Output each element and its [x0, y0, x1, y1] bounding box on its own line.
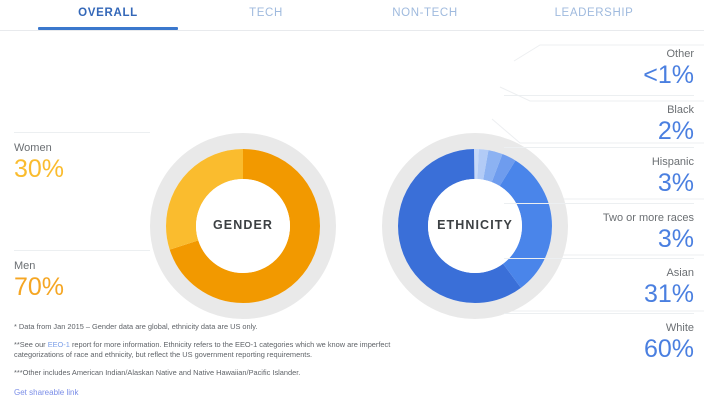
legend-item-white-label: White — [504, 321, 694, 335]
tab-active-underline — [38, 27, 178, 30]
legend-item-two-or-more-races-label: Two or more races — [504, 211, 694, 225]
footnote-eeo1-pre: **See our — [14, 340, 48, 349]
legend-rule — [504, 203, 694, 204]
tab-leadership[interactable]: LEADERSHIP — [519, 0, 669, 30]
gender-center-label: GENDER — [150, 218, 336, 232]
legend-item-hispanic-value: 3% — [504, 169, 694, 198]
legend-rule — [14, 250, 150, 251]
tab-overall-label: OVERALL — [78, 7, 138, 19]
legend-item-women-value: 30% — [14, 155, 150, 184]
legend-item-asian[interactable]: Asian 31% — [504, 266, 694, 309]
legend-item-men[interactable]: Men 70% — [14, 259, 150, 302]
legend-item-asian-label: Asian — [504, 266, 694, 280]
legend-item-white[interactable]: White 60% — [504, 321, 694, 364]
legend-rule — [504, 313, 694, 314]
legend-rule — [504, 95, 694, 96]
tab-non-tech[interactable]: NON-TECH — [355, 0, 495, 30]
legend-item-black-value: 2% — [504, 117, 694, 146]
tab-bar: OVERALL TECH NON-TECH LEADERSHIP — [0, 0, 704, 31]
legend-item-black-label: Black — [504, 103, 694, 117]
footnote-eeo1-post: report for more information. Ethnicity r… — [14, 340, 390, 360]
footnote-data-source: * Data from Jan 2015 – Gender data are g… — [14, 322, 434, 333]
legend-item-men-value: 70% — [14, 273, 150, 302]
legend-item-men-label: Men — [14, 259, 150, 273]
legend-item-asian-value: 31% — [504, 280, 694, 309]
tab-tech-label: TECH — [249, 7, 283, 19]
legend-item-other[interactable]: Other <1% — [504, 47, 694, 90]
tab-leadership-label: LEADERSHIP — [555, 7, 634, 19]
legend-item-two-or-more-races-value: 3% — [504, 225, 694, 254]
legend-item-other-value: <1% — [504, 61, 694, 90]
tab-non-tech-label: NON-TECH — [392, 7, 458, 19]
footnote-other-definition: ***Other includes American Indian/Alaska… — [14, 368, 434, 379]
footnote-eeo1: **See our EEO-1 report for more informat… — [14, 340, 434, 361]
legend-item-women[interactable]: Women 30% — [14, 141, 150, 184]
legend-item-women-label: Women — [14, 141, 150, 155]
legend-item-hispanic[interactable]: Hispanic 3% — [504, 155, 694, 198]
tab-tech[interactable]: TECH — [196, 0, 336, 30]
legend-rule — [14, 132, 150, 133]
legend-item-two-or-more-races[interactable]: Two or more races 3% — [504, 211, 694, 254]
get-shareable-link[interactable]: Get shareable link — [14, 388, 78, 397]
tab-overall[interactable]: OVERALL — [38, 0, 178, 30]
legend-item-hispanic-label: Hispanic — [504, 155, 694, 169]
charts-stage: GENDER ETHNICITY Women 30% Men — [0, 31, 704, 321]
legend-item-other-label: Other — [504, 47, 694, 61]
legend-item-black[interactable]: Black 2% — [504, 103, 694, 146]
legend-item-white-value: 60% — [504, 335, 694, 364]
legend-rule — [504, 147, 694, 148]
gender-donut-chart: GENDER — [150, 133, 336, 319]
legend-rule — [504, 258, 694, 259]
eeo1-link[interactable]: EEO-1 — [48, 340, 70, 349]
footnotes: * Data from Jan 2015 – Gender data are g… — [14, 322, 434, 385]
